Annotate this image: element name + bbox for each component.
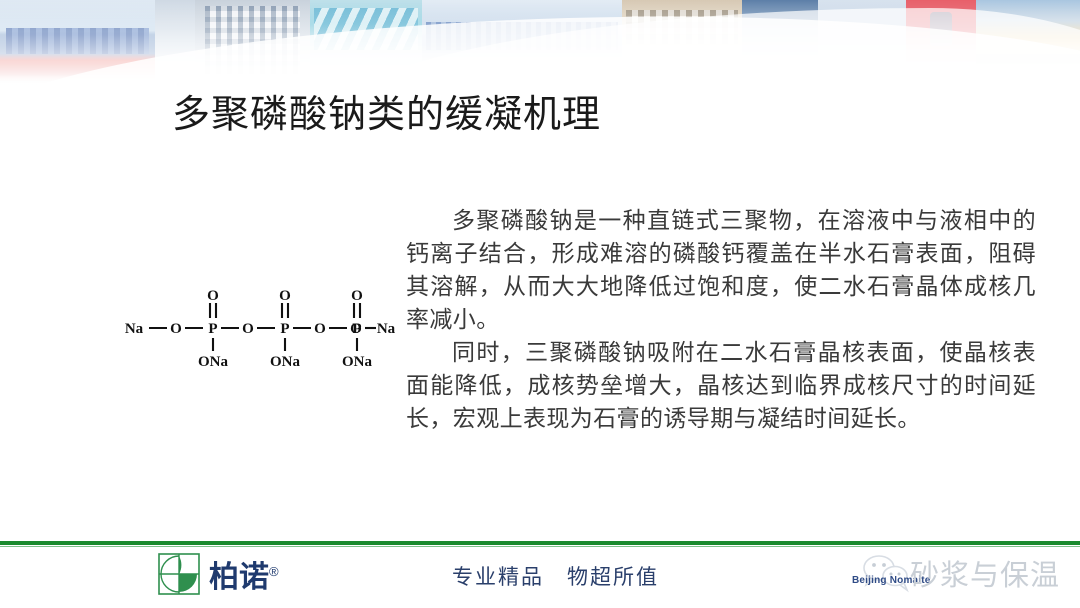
atom-label-p-1: P (208, 321, 217, 337)
header-photo-band (0, 0, 1080, 96)
slide-title: 多聚磷酸钠类的缓凝机理 (172, 92, 601, 140)
atom-label-o-double-2: O (279, 288, 291, 304)
footer-tagline: 专业精品 物超所值 (452, 561, 659, 591)
brand-block: 柏诺® (158, 552, 279, 596)
atom-label-o-bridge-1: O (170, 321, 182, 337)
paragraph-2: 同时，三聚磷酸钠吸附在二水石膏晶核表面，使晶核表面能降低，成核势垒增大，晶核达到… (406, 336, 1036, 435)
photo-award-ceremony-red-backdrop (906, 0, 976, 96)
pinwheel-square-logo-icon (158, 553, 200, 595)
watermark-block: Beijing Nomaite 砂浆与保温 (852, 549, 1080, 605)
photo-strip (0, 0, 1080, 96)
wechat-icon (860, 553, 912, 593)
atom-label-o-bridge-3: O (314, 321, 326, 337)
group-label-ona-2: ONa (270, 354, 301, 370)
atom-label-na-right: Na (377, 321, 396, 337)
photo-staff-group-photo (422, 0, 622, 96)
watermark-chinese-text: 砂浆与保温 (910, 552, 1060, 594)
body-text-block: 多聚磷酸钠是一种直链式三聚物，在溶液中与液相中的钙离子结合，形成难溶的磷酸钙覆盖… (406, 204, 1036, 435)
atom-label-o-double-3: O (351, 288, 363, 304)
atom-label-o-bridge-2: O (242, 321, 254, 337)
brand-name: 柏诺® (209, 552, 279, 596)
footer-divider-green (0, 541, 1080, 545)
photo-group-photo-with-red-banner (0, 0, 155, 96)
photo-meeting-photo (818, 0, 906, 96)
photo-sunset-landscape (976, 0, 1080, 96)
footer-bar: 柏诺® 专业精品 物超所值 Beijing Nomaite 砂浆与保温 (0, 547, 1080, 608)
paragraph-1: 多聚磷酸钠是一种直链式三聚物，在溶液中与液相中的钙离子结合，形成难溶的磷酸钙覆盖… (406, 204, 1036, 336)
presentation-slide: 多聚磷酸钠类的缓凝机理 (0, 0, 1080, 608)
registered-trademark-symbol: ® (269, 564, 279, 579)
photo-dark-machinery (742, 0, 818, 96)
atom-label-p-2: P (280, 321, 289, 337)
atom-label-na-left: Na (125, 321, 144, 337)
sodium-tripolyphosphate-svg: Na Na O O O O P P O O O ONa ONa ONa P (118, 282, 398, 374)
atom-label-p-3: P (352, 321, 361, 337)
photo-aerial-factory-view (310, 0, 422, 96)
chemical-structure-diagram: Na Na O O O O P P O O O ONa ONa ONa P (118, 282, 398, 374)
photo-factory-building (622, 0, 742, 96)
group-label-ona-3: ONa (342, 354, 373, 370)
photo-glass-tower (195, 0, 310, 96)
atom-label-o-double-1: O (207, 288, 219, 304)
photo-office-building (155, 0, 195, 96)
group-label-ona-1: ONa (198, 354, 229, 370)
brand-name-text: 柏诺 (209, 561, 269, 594)
